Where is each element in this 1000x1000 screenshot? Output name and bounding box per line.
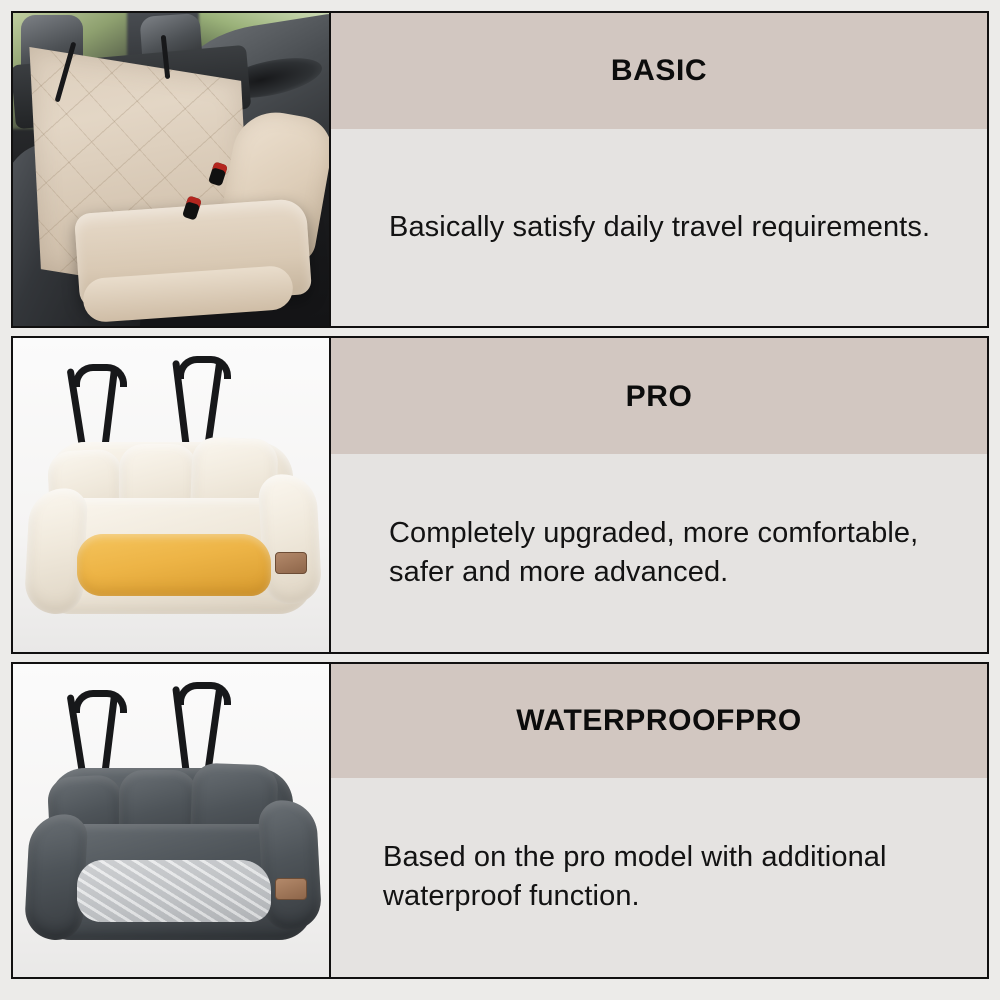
studio-backdrop: [13, 664, 329, 977]
carry-handle-loop-right: [177, 356, 231, 379]
basic-car-seat-cover-photo: [13, 13, 329, 326]
tier-title-waterproof-pro: WATERPROOF PRO: [331, 664, 987, 778]
seat-cushion-yellow: [77, 534, 271, 596]
tier-description-pro: Completely upgraded, more comfortable, s…: [331, 454, 987, 651]
basic-photo-cell: [13, 13, 331, 326]
brand-leather-tag: [275, 878, 307, 900]
pro-text-cell: PRO Completely upgraded, more comfortabl…: [331, 338, 987, 651]
carry-handle-loop-left: [73, 364, 127, 387]
pro-photo-cell: [13, 338, 331, 651]
fleece-seat-insert: [77, 860, 271, 922]
tier-title-pro: PRO: [331, 338, 987, 454]
basic-text-cell: BASIC Basically satisfy daily travel req…: [331, 13, 987, 326]
tier-description-waterproof-pro: Based on the pro model with additional w…: [331, 778, 987, 977]
tier-description-basic: Basically satisfy daily travel requireme…: [331, 129, 987, 326]
carry-handle-loop-left: [73, 690, 127, 713]
tier-title-basic: BASIC: [331, 13, 987, 129]
tier-description-pro-text: Completely upgraded, more comfortable, s…: [389, 514, 941, 592]
tier-row-basic[interactable]: BASIC Basically satisfy daily travel req…: [11, 11, 989, 328]
car-interior-scene: [13, 13, 329, 326]
brand-leather-tag: [275, 552, 307, 574]
waterproof-pro-text-cell: WATERPROOF PRO Based on the pro model wi…: [331, 664, 987, 977]
tier-row-waterproof-pro[interactable]: WATERPROOF PRO Based on the pro model wi…: [11, 662, 989, 979]
studio-backdrop: [13, 338, 329, 651]
tier-title-line-1: WATERPROOF: [516, 704, 735, 738]
waterproof-pro-pet-car-bed-photo: [13, 664, 329, 977]
product-tier-comparison-page: BASIC Basically satisfy daily travel req…: [0, 0, 1000, 1000]
carry-handle-loop-right: [177, 682, 231, 705]
tier-title-line-2: PRO: [735, 704, 802, 738]
comparison-table: BASIC Basically satisfy daily travel req…: [11, 11, 989, 979]
tier-row-pro[interactable]: PRO Completely upgraded, more comfortabl…: [11, 336, 989, 653]
tier-description-waterproof-pro-text: Based on the pro model with additional w…: [383, 838, 957, 916]
tier-description-basic-text: Basically satisfy daily travel requireme…: [389, 208, 930, 247]
waterproof-pro-photo-cell: [13, 664, 331, 977]
pro-pet-car-bed-photo: [13, 338, 329, 651]
